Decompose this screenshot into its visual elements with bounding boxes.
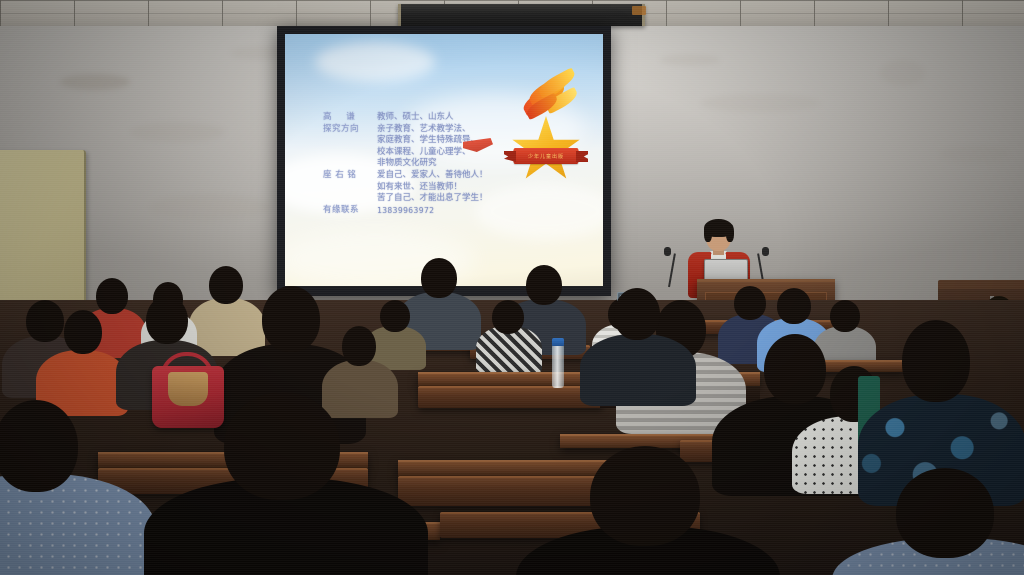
slide-row-value: 如有来世、还当教师！ [377, 182, 563, 194]
torch-star-emblem-icon: 少年儿童出版 [497, 76, 593, 176]
microphone-head-left [664, 247, 671, 256]
audience-member-black-foreground-2 [556, 446, 736, 575]
wall-board-panel [0, 150, 86, 310]
projection-screen: 高 谦教师、硕士、山东人 探究方向亲子教育、艺术教学法、 家庭教育、学生特殊疏导… [277, 26, 611, 296]
wall-stain [150, 194, 270, 220]
audience-member-orange [48, 310, 114, 406]
slide-row-label: 高 谦 [323, 112, 377, 124]
slide-row-label: 座 右 铭 [323, 170, 377, 182]
audience-member-dark-mid [596, 288, 676, 398]
audience-member-blue-front-right [856, 468, 1024, 575]
slide-row: 苦了自己、才能出息了学生！ [323, 193, 563, 205]
projection-screen-housing [398, 4, 645, 26]
wall-stain [130, 122, 225, 142]
wall-stain [940, 146, 1010, 162]
av-desk-top [938, 280, 1024, 289]
wall-stain [60, 74, 130, 90]
water-bottle [552, 344, 564, 388]
slide-phone-number: 13839963972 [377, 205, 563, 217]
housing-label [632, 6, 646, 15]
slide-row-value: 苦了自己、才能出息了学生！ [377, 193, 563, 205]
desk-row [418, 372, 603, 386]
wall-stain [880, 60, 925, 86]
water-bottle-cap [552, 338, 564, 346]
presenter-hair-side [704, 224, 712, 242]
slide-row-label: 有缘联系 [323, 205, 377, 217]
audience-member-checker [480, 300, 536, 362]
audience-member-black-foreground [190, 392, 380, 575]
slide-cloud [315, 42, 435, 82]
audience-member-blue-shirt-left [0, 400, 116, 575]
emblem-ribbon: 少年儿童出版 [513, 148, 579, 164]
presenter-hair-side [726, 224, 734, 242]
slide-row-label: 探究方向 [323, 124, 377, 136]
wall-stain [660, 54, 720, 66]
emblem-ribbon-text: 少年儿童出版 [513, 148, 579, 164]
microphone-head-right [762, 247, 769, 256]
bench-row [418, 386, 603, 408]
flame-icon [519, 76, 591, 131]
slide-row: 有缘联系13839963972 [323, 205, 563, 217]
wall-stain [700, 94, 820, 112]
projected-slide: 高 谦教师、硕士、山东人 探究方向亲子教育、艺术教学法、 家庭教育、学生特殊疏导… [285, 34, 603, 286]
slide-row: 如有来世、还当教师！ [323, 182, 563, 194]
lecture-hall-photo: 高 谦教师、硕士、山东人 探究方向亲子教育、艺术教学法、 家庭教育、学生特殊疏导… [0, 0, 1024, 575]
